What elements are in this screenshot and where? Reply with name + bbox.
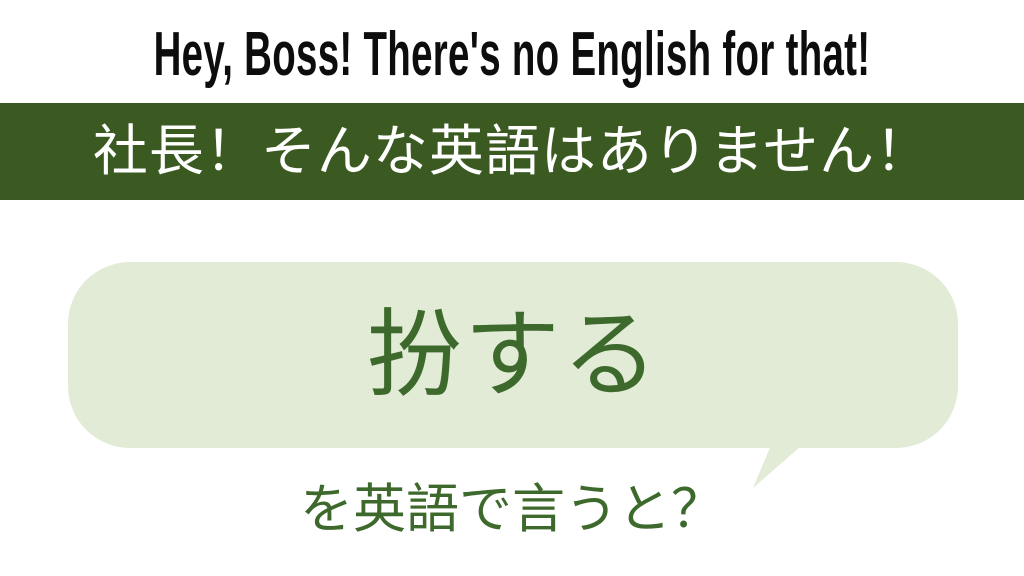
vocabulary-word: 扮する [68, 262, 958, 448]
slide-canvas: Hey, Boss! There's no English for that! … [0, 0, 1024, 576]
japanese-title-banner: 社長！そんな英語はありません！ [0, 103, 1024, 200]
speech-bubble-body: 扮する [68, 262, 958, 448]
page-title: Hey, Boss! There's no English for that! [195, 18, 830, 92]
speech-bubble: 扮する [68, 262, 958, 490]
banner-title-text: 社長！そんな英語はありません！ [0, 103, 1024, 200]
prompt-question-text: を英語で言うと？ [0, 478, 1024, 540]
